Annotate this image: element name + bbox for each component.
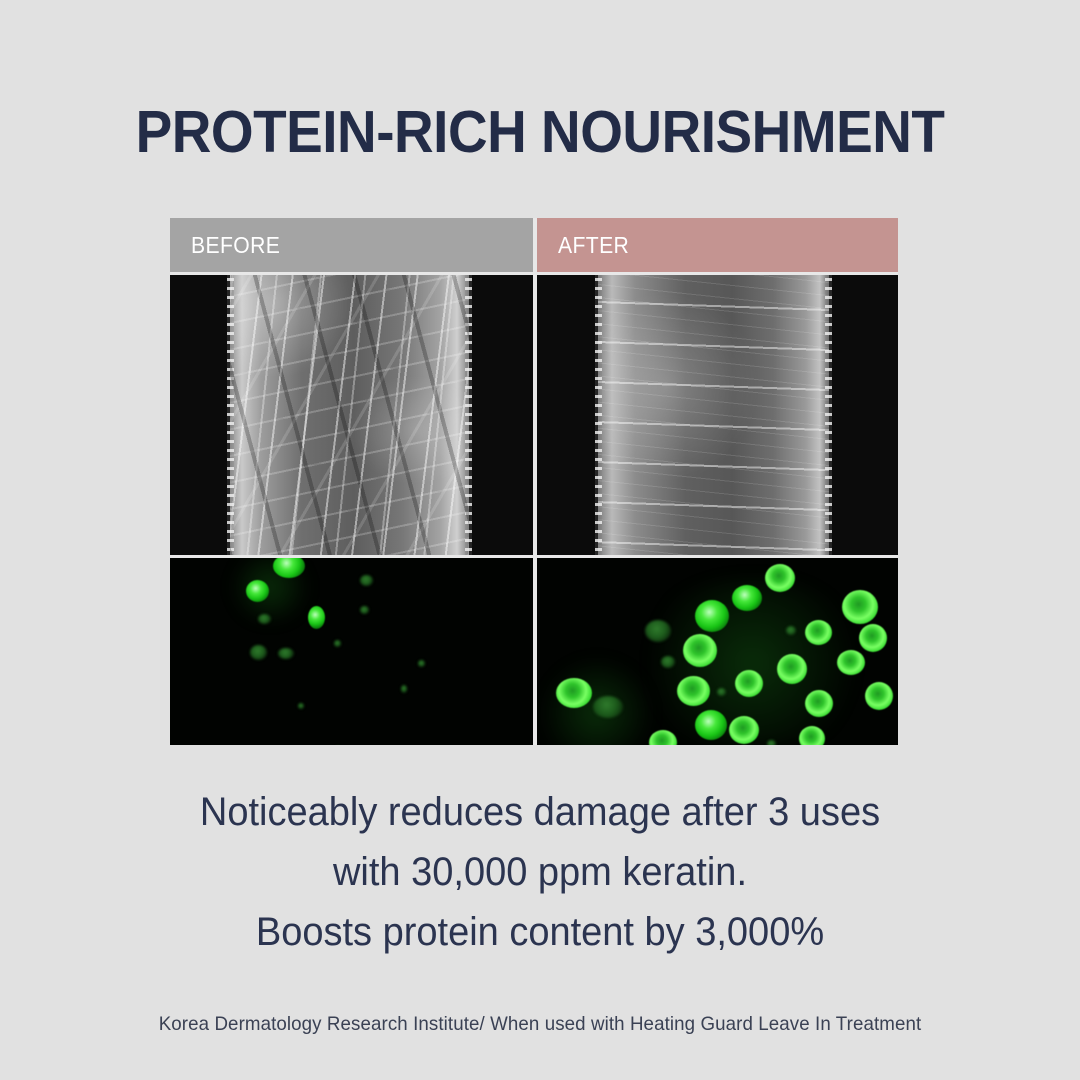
shaft-edge-left <box>595 275 602 555</box>
fluorescent-cell <box>258 614 271 624</box>
claim-line-2: with 30,000 ppm keratin. <box>27 842 1053 902</box>
after-label-bar: AFTER <box>537 218 898 272</box>
shaft-edge-left <box>227 275 234 555</box>
fluorescent-cell <box>308 606 325 629</box>
fluorescent-cell <box>765 564 795 592</box>
fluorescent-cell <box>837 650 865 675</box>
fluorescent-cell <box>661 656 675 668</box>
fluorescent-cell <box>401 685 407 693</box>
fluorescent-cell <box>805 690 833 717</box>
after-fluorescence-micrograph <box>537 558 898 745</box>
fluorescent-cell <box>865 682 893 710</box>
fluorescent-cell <box>799 726 825 745</box>
fluorescent-cell <box>298 703 304 709</box>
fluorescent-cell <box>777 654 807 684</box>
before-label-bar: BEFORE <box>170 218 533 272</box>
fluorescent-cell <box>695 710 727 740</box>
fluorescent-cell <box>250 645 267 660</box>
before-after-comparison-grid: BEFORE AFTER <box>170 218 898 745</box>
fluorescent-cell <box>683 634 717 667</box>
fluorescent-cell <box>842 590 878 624</box>
fluorescent-cell <box>729 716 759 744</box>
fluorescent-cell <box>735 670 763 697</box>
fluorescent-cell <box>645 620 671 642</box>
fluorescent-cell <box>695 600 729 632</box>
claim-line-3: Boosts protein content by 3,000% <box>27 902 1053 962</box>
fluorescent-cell <box>360 606 369 614</box>
after-sem-micrograph <box>537 275 898 555</box>
fluorescent-cell <box>786 626 796 635</box>
fluorescent-cell <box>677 676 710 706</box>
fluorescent-cell <box>649 730 677 745</box>
fluorescent-cell <box>805 620 832 645</box>
fluorescent-cell <box>859 624 887 652</box>
product-claim-graphic: PROTEIN-RICH NOURISHMENT BEFORE AFTER <box>0 0 1080 1080</box>
page-title: PROTEIN-RICH NOURISHMENT <box>38 98 1042 166</box>
fluorescent-cell <box>767 740 776 745</box>
fluorescent-cell <box>556 678 592 708</box>
after-hair-shaft <box>598 275 829 555</box>
fluorescent-cell <box>732 585 762 611</box>
fluorescent-cell <box>334 640 341 647</box>
fluorescent-cell <box>418 660 425 667</box>
shaft-edge-right <box>465 275 472 555</box>
fluorescent-cell <box>246 580 269 602</box>
shaft-edge-right <box>825 275 832 555</box>
before-label-text: BEFORE <box>191 232 280 259</box>
claim-line-1: Noticeably reduces damage after 3 uses <box>27 782 1053 842</box>
before-hair-shaft <box>230 275 470 555</box>
before-sem-micrograph <box>170 275 533 555</box>
fluorescent-cell <box>278 648 294 659</box>
fluorescent-cell <box>717 688 726 696</box>
after-label-text: AFTER <box>558 232 629 259</box>
before-fluorescence-micrograph <box>170 558 533 745</box>
claim-body-text: Noticeably reduces damage after 3 uses w… <box>27 782 1053 962</box>
footnote-source-text: Korea Dermatology Research Institute/ Wh… <box>22 1013 1059 1036</box>
fluorescent-cell <box>360 575 373 586</box>
fluorescent-cell <box>593 696 623 718</box>
